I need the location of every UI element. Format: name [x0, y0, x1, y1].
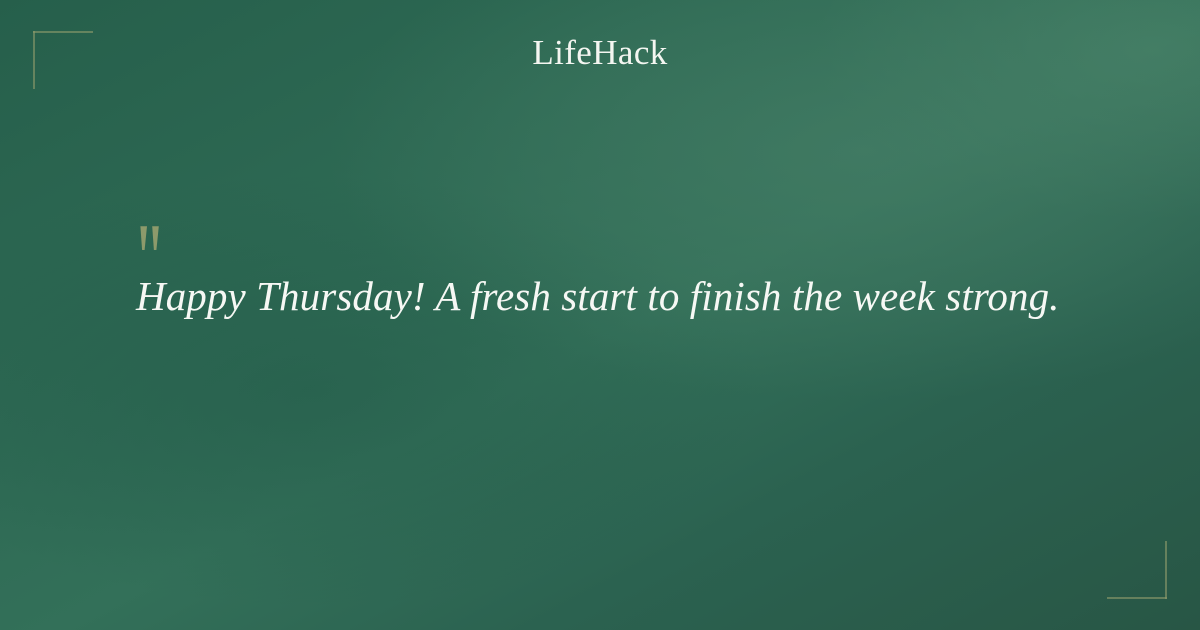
brand-logo-text: LifeHack — [532, 35, 667, 70]
corner-bracket-bottom-right-vertical — [1165, 541, 1167, 599]
corner-bracket-bottom-right-icon — [1107, 539, 1167, 599]
quote-block: Happy Thursday! A fresh start to finish … — [136, 225, 1086, 323]
quote-card: LifeHack Happy Thursday! A fresh start t… — [0, 0, 1200, 630]
corner-bracket-bottom-right-horizontal — [1107, 597, 1167, 599]
quote-text: Happy Thursday! A fresh start to finish … — [136, 271, 1086, 323]
brand-header: LifeHack — [0, 0, 1200, 104]
quotation-mark-icon — [136, 225, 170, 259]
